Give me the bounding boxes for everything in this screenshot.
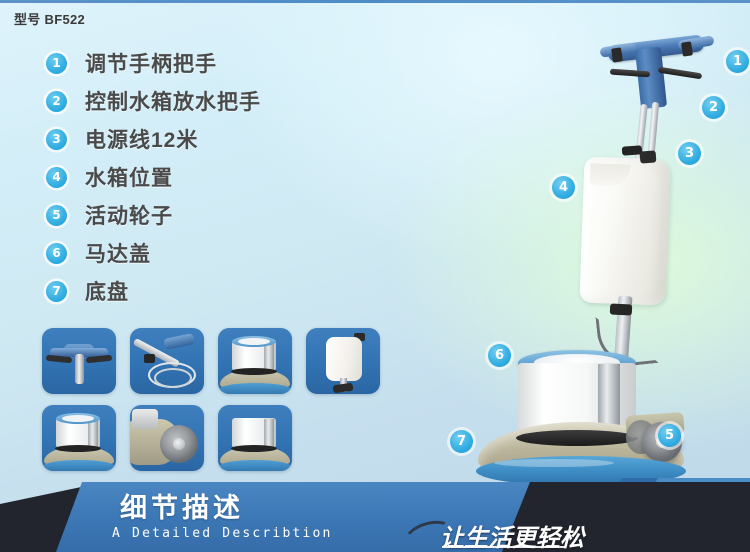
photo-callout-4: 4 xyxy=(552,176,575,199)
banner-title: 细节描述 xyxy=(120,486,244,525)
feature-list: 1 调节手柄把手 2 控制水箱放水把手 3 电源线12米 4 水箱位置 5 活动… xyxy=(46,44,376,310)
thumbnail-gallery xyxy=(42,328,394,471)
feature-label-7: 底盘 xyxy=(85,276,129,306)
motor-ring-icon xyxy=(231,445,277,452)
photo-callout-5: 5 xyxy=(658,424,681,447)
handle-lever-right-icon xyxy=(86,355,112,364)
feature-item-3: 3 电源线12米 xyxy=(46,120,376,158)
feature-badge-1: 1 xyxy=(46,53,67,74)
feature-label-6: 马达盖 xyxy=(85,238,151,268)
deck-rim-icon xyxy=(219,460,291,471)
motor-strip-icon xyxy=(264,419,274,448)
thumbnail-handle-grips[interactable] xyxy=(42,328,116,394)
feature-label-5: 活动轮子 xyxy=(85,200,173,230)
feature-item-7: 7 底盘 xyxy=(46,272,376,310)
tank-body-icon xyxy=(326,337,362,381)
motor-ring-icon xyxy=(55,445,101,452)
deck-rim-icon xyxy=(219,383,291,394)
thumbnail-motor-housing-angle[interactable] xyxy=(42,405,116,471)
product-detail-page: 型号 BF522 1 调节手柄把手 2 控制水箱放水把手 3 电源线12米 4 … xyxy=(0,0,750,552)
cord-plug-icon xyxy=(144,354,155,363)
feature-label-3: 电源线12米 xyxy=(85,124,198,154)
tank-foot-icon xyxy=(333,383,354,394)
banner-subtitle: A Detailed Describtion xyxy=(112,526,333,541)
motor-strip-icon xyxy=(264,342,274,371)
feature-item-1: 1 调节手柄把手 xyxy=(46,44,376,82)
feature-item-5: 5 活动轮子 xyxy=(46,196,376,234)
feature-badge-2: 2 xyxy=(46,91,67,112)
photo-callout-7: 7 xyxy=(450,430,473,453)
feature-badge-4: 4 xyxy=(46,167,67,188)
photo-callout-1: 1 xyxy=(726,50,749,73)
thumbnail-base-chassis[interactable] xyxy=(218,405,292,471)
thumbnail-motor-housing[interactable] xyxy=(218,328,292,394)
brand-tagline-underline xyxy=(442,546,566,548)
handle-clamp-right xyxy=(681,41,693,56)
motor-top-inner-icon xyxy=(238,338,270,345)
cord-head-icon xyxy=(163,333,195,350)
control-lever-right xyxy=(658,67,702,80)
feature-label-2: 控制水箱放水把手 xyxy=(85,86,261,116)
deck-rim-icon xyxy=(43,460,115,471)
thumbnail-water-tank[interactable] xyxy=(306,328,380,394)
feature-badge-7: 7 xyxy=(46,281,67,302)
thumbnail-row-1 xyxy=(42,328,394,394)
motor-top-inner-icon xyxy=(62,415,94,422)
base-bumper-highlight xyxy=(494,459,614,467)
detail-banner: 细节描述 A Detailed Describtion xyxy=(0,478,750,552)
feature-badge-5: 5 xyxy=(46,205,67,226)
handle-stem-icon xyxy=(75,354,84,384)
wheel-hub-icon xyxy=(173,438,185,450)
feature-item-4: 4 水箱位置 xyxy=(46,158,376,196)
cord-coil-inner-icon xyxy=(154,368,192,388)
motor-ring-icon xyxy=(231,368,277,375)
thumbnail-row-2 xyxy=(42,405,394,471)
water-tank-cap xyxy=(640,150,657,163)
feature-item-6: 6 马达盖 xyxy=(46,234,376,272)
feature-label-1: 调节手柄把手 xyxy=(85,48,217,78)
feature-badge-6: 6 xyxy=(46,243,67,264)
thumbnail-power-cord[interactable] xyxy=(130,328,204,394)
photo-callout-2: 2 xyxy=(702,96,725,119)
handle-clamp-left xyxy=(611,47,623,62)
top-rule-divider xyxy=(0,0,750,3)
wheel-motor-icon xyxy=(132,409,158,429)
motor-strip-icon xyxy=(88,419,98,448)
photo-callout-6: 6 xyxy=(488,344,511,367)
motor-base-ring xyxy=(516,430,638,446)
model-number-label: 型号 BF522 xyxy=(14,9,85,28)
feature-badge-3: 3 xyxy=(46,129,67,150)
product-photo: 1 2 3 4 5 6 7 xyxy=(430,18,750,478)
thumbnail-wheels[interactable] xyxy=(130,405,204,471)
feature-item-2: 2 控制水箱放水把手 xyxy=(46,82,376,120)
feature-label-4: 水箱位置 xyxy=(85,162,173,192)
photo-callout-3: 3 xyxy=(678,142,701,165)
